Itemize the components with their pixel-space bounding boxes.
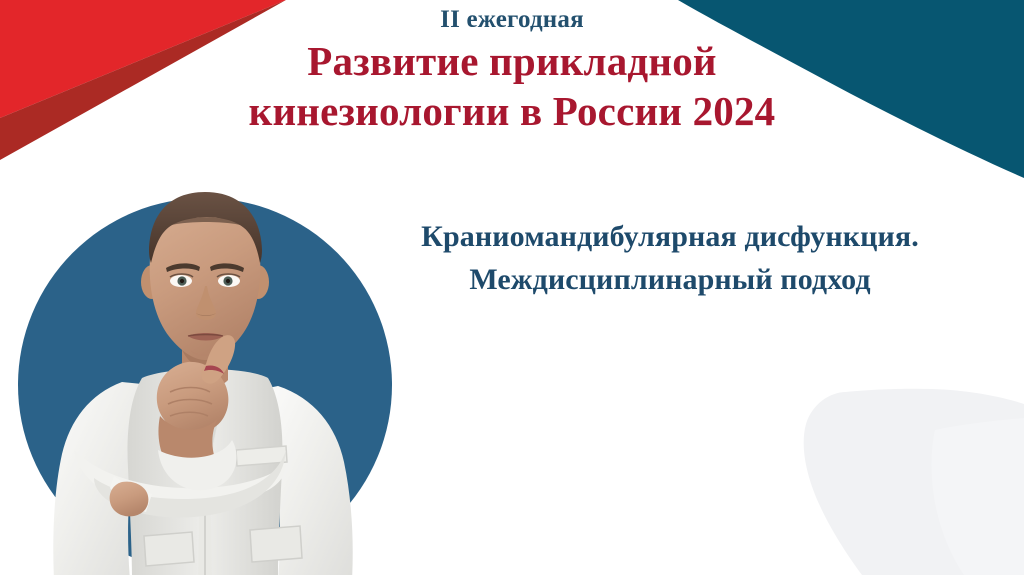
presentation-subtitle-line-1: Краниомандибулярная дисфункция. xyxy=(330,216,1010,259)
page-title: Развитие прикладной кинезиологии в Росси… xyxy=(0,36,1024,136)
page-title-line-2: кинезиологии в России 2024 xyxy=(0,86,1024,136)
presentation-slide: II ежегодная Развитие прикладной кинезио… xyxy=(0,0,1024,575)
page-title-line-1: Развитие прикладной xyxy=(0,36,1024,86)
presentation-subtitle-line-2: Междисциплинарный подход xyxy=(330,259,1010,302)
presentation-subtitle: Краниомандибулярная дисфункция. Междисци… xyxy=(330,216,1010,301)
event-eyebrow-text: II ежегодная xyxy=(0,6,1024,35)
presenter-photo xyxy=(10,150,404,575)
bottom-right-watermark-icon xyxy=(804,389,1024,575)
